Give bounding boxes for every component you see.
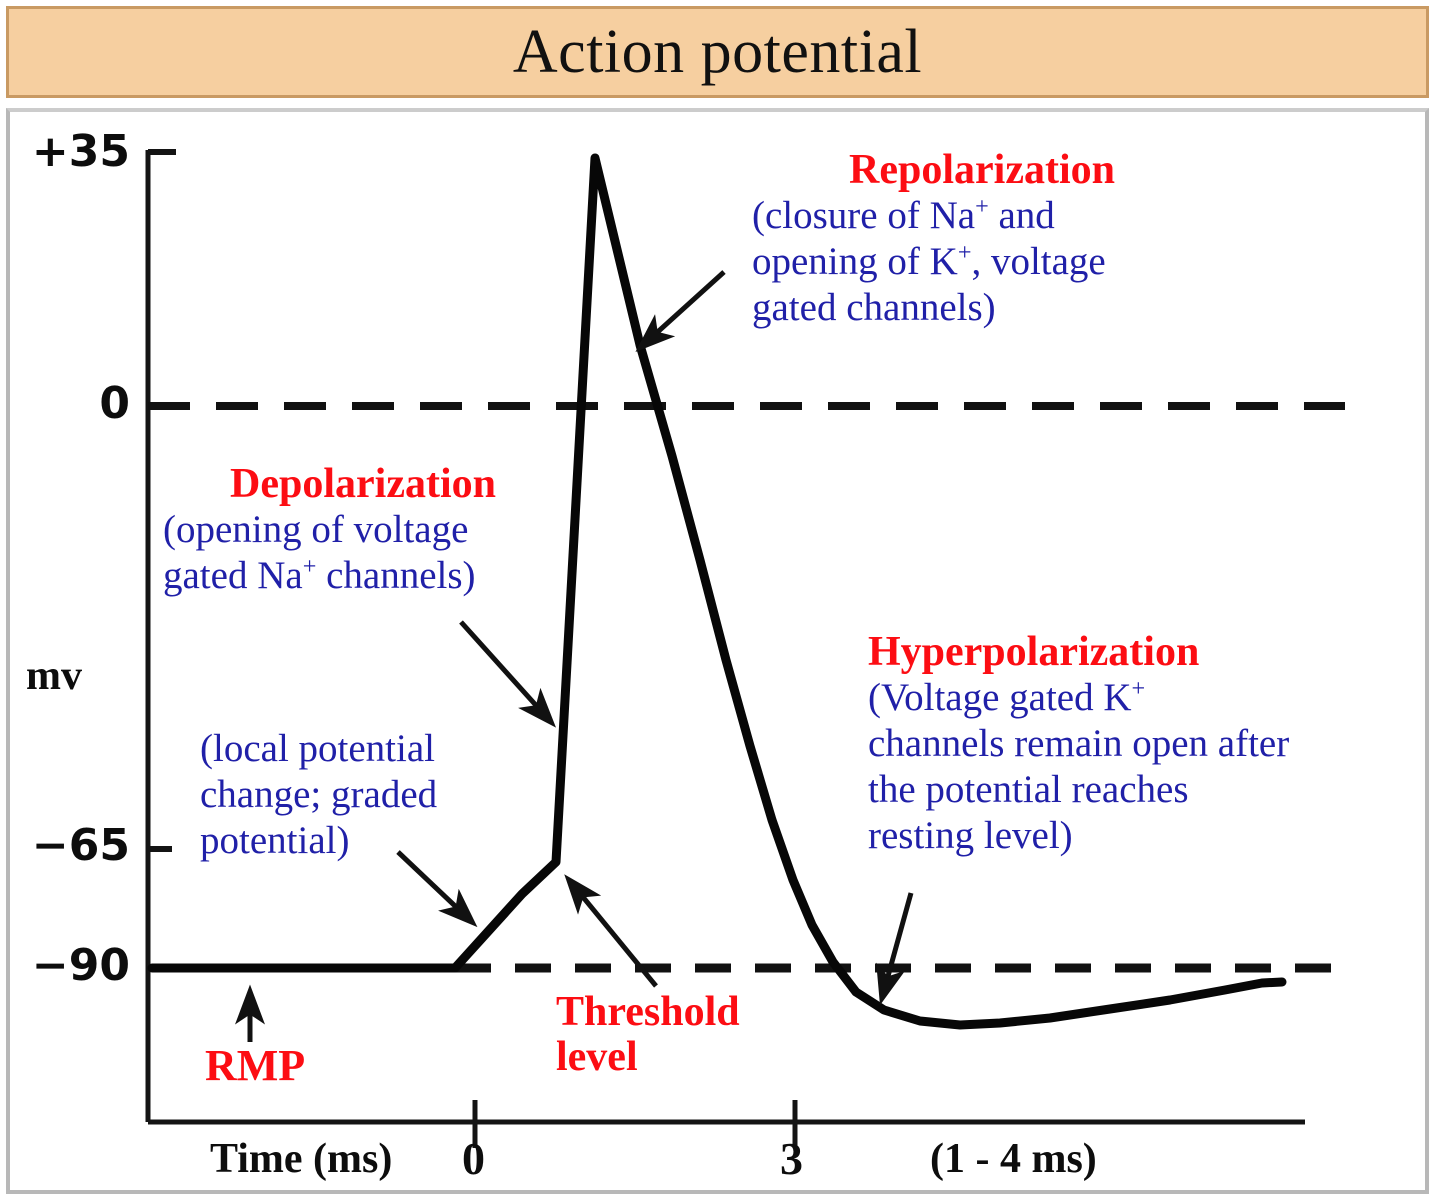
na-plus-superscript: + [975,193,989,220]
annotation-local-potential: (local potential change; graded potentia… [200,726,530,864]
repolarization-line-2: opening of K+, voltage [752,239,1212,285]
repolarization-line-1: (closure of Na+ and [752,193,1212,239]
depolarization-line-2: gated Na+ channels) [163,553,563,599]
y-axis-title: mv [26,655,82,697]
x-axis-title: Time (ms) [210,1138,392,1180]
depolarization-line2-pre: gated Na [163,554,303,597]
repolarization-line2-pre: opening of K [752,240,958,283]
k-plus-superscript-2: + [1132,675,1146,702]
y-axis-label-35: +35 [10,130,130,174]
hyperpolarization-line-2: channels remain open after [868,721,1368,767]
figure-title-bar: Action potential [6,6,1429,98]
threshold-line-2: level [556,1035,740,1080]
repolarization-line-3: gated channels) [752,285,1212,331]
hyperpolarization-line1-pre: (Voltage gated K [868,676,1132,719]
annotation-threshold-level: Threshold level [556,990,740,1079]
y-axis-label-0: 0 [10,382,130,426]
repolarization-line2-post: , voltage [971,240,1105,283]
repolarization-line1-post: and [989,194,1055,237]
depolarization-line2-post: channels) [316,554,475,597]
local-potential-line-2: change; graded [200,772,530,818]
hyperpolarization-line-1: (Voltage gated K+ [868,675,1368,721]
k-plus-superscript: + [958,239,972,266]
page-title: Action potential [513,21,922,83]
hyperpolarization-line-4: resting level) [868,813,1368,859]
annotation-repolarization: Repolarization (closure of Na+ and openi… [752,148,1212,331]
x-axis-label-0: 0 [462,1136,485,1182]
hyperpolarization-heading: Hyperpolarization [868,630,1368,675]
y-axis-label-minus90: −90 [10,944,130,988]
annotation-rmp: RMP [205,1044,305,1088]
depolarization-heading: Depolarization [163,462,563,507]
annotation-depolarization: Depolarization (opening of voltage gated… [163,462,563,599]
y-axis-label-minus65: −65 [10,824,130,868]
x-axis-label-3: 3 [780,1136,803,1182]
annotation-hyperpolarization: Hyperpolarization (Voltage gated K+ chan… [868,630,1368,859]
na-plus-superscript-2: + [303,553,317,580]
repolarization-line1-pre: (closure of Na [752,194,975,237]
depolarization-line-1: (opening of voltage [163,507,563,553]
local-potential-line-3: potential) [200,818,530,864]
action-potential-figure: Action potential [0,0,1435,1200]
x-axis-range-note: (1 - 4 ms) [930,1138,1097,1180]
hyperpolarization-line-3: the potential reaches [868,767,1368,813]
repolarization-heading: Repolarization [752,148,1212,193]
threshold-line-1: Threshold [556,990,740,1035]
local-potential-line-1: (local potential [200,726,530,772]
